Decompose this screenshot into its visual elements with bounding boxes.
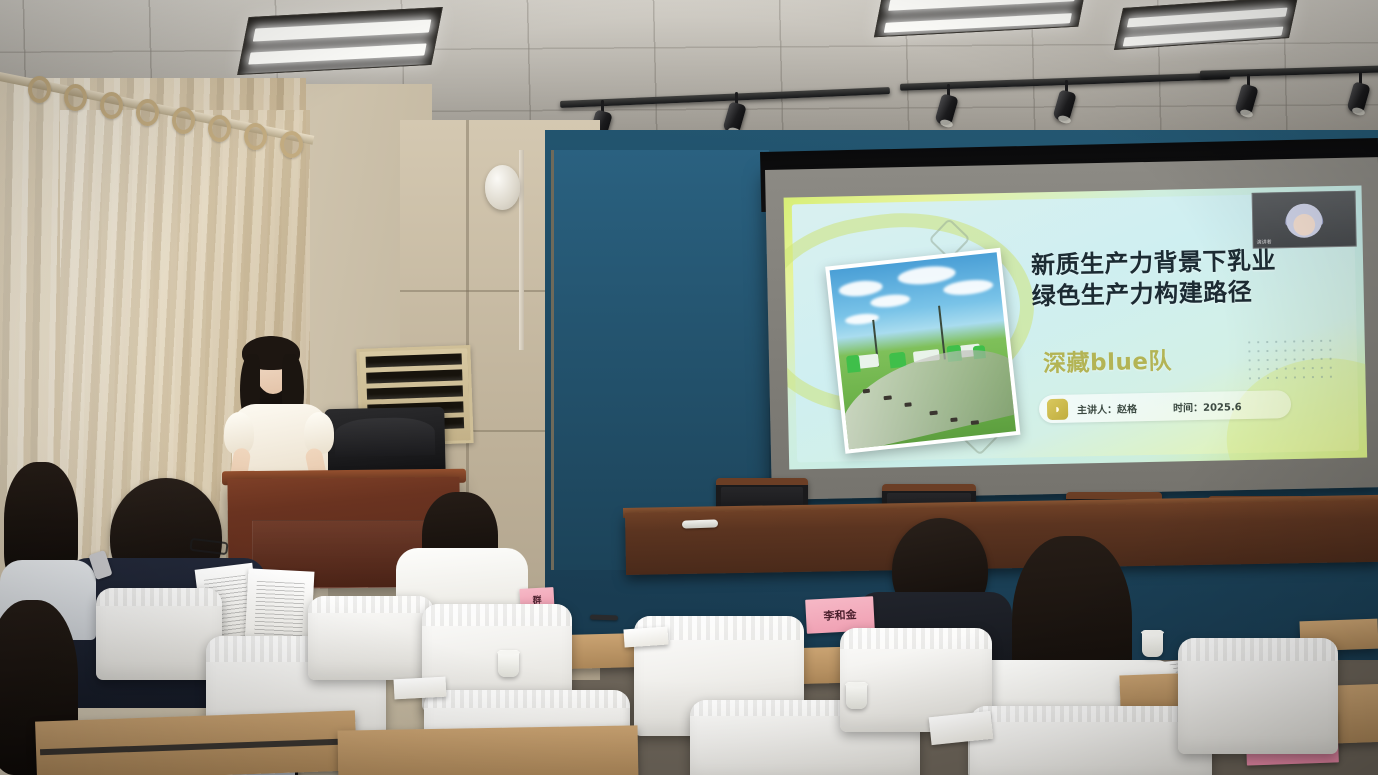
slide-time-label: 时间：2025.6 — [1173, 398, 1242, 414]
audience-chair[interactable] — [308, 596, 434, 680]
conference-room-scene: 新质生产力背景下乳业 绿色生产力构建路径 深藏blue队 ◗ 主讲人：赵格 时间… — [0, 0, 1378, 775]
document-sheet[interactable] — [394, 677, 447, 700]
paper-cup[interactable] — [498, 650, 519, 677]
wall-speaker-icon — [485, 165, 520, 210]
video-conference-pip[interactable]: 演讲者 — [1252, 191, 1357, 249]
slide-speaker-label: 主讲人：赵格 — [1077, 400, 1137, 416]
slide-title: 新质生产力背景下乳业 绿色生产力构建路径 — [1031, 244, 1352, 312]
audience-desk — [338, 725, 639, 775]
slide-decor-dotgrid — [1245, 336, 1338, 386]
curtain-grommet — [28, 76, 51, 103]
presenter-sleeve-right — [304, 412, 334, 454]
slide-team-name: 深藏blue队 — [1043, 342, 1173, 379]
curtain-grommet — [244, 123, 267, 150]
projection-screen[interactable]: 新质生产力背景下乳业 绿色生产力构建路径 深藏blue队 ◗ 主讲人：赵格 时间… — [765, 157, 1378, 500]
curtain-grommet — [208, 115, 231, 142]
audience-chair[interactable] — [970, 706, 1212, 775]
paper-cup[interactable] — [1142, 630, 1163, 657]
slide-photo-frame — [825, 248, 1020, 454]
slide-info-bar: ◗ 主讲人：赵格 时间：2025.6 — [1039, 390, 1292, 423]
ceiling-light-panel — [237, 7, 443, 75]
pip-participant-avatar — [1286, 203, 1323, 238]
curtain-grommet — [100, 92, 123, 119]
curtain-grommet — [172, 107, 195, 134]
audience-chair[interactable] — [96, 588, 222, 680]
curtain-grommet — [280, 131, 303, 158]
microphone[interactable] — [682, 519, 718, 528]
pen[interactable] — [590, 615, 618, 621]
audience-chair[interactable] — [1178, 638, 1338, 754]
presentation-slide: 新质生产力背景下乳业 绿色生产力构建路径 深藏blue队 ◗ 主讲人：赵格 时间… — [784, 186, 1368, 470]
wall-conduit — [519, 150, 524, 350]
curtain-grommet — [136, 99, 159, 126]
wall-seam — [400, 290, 546, 292]
paper-cup[interactable] — [846, 682, 867, 709]
dairy-farm-photo — [830, 252, 1016, 449]
curtain-grommet — [64, 84, 87, 111]
moon-badge-icon: ◗ — [1047, 398, 1068, 419]
pip-label: 演讲者 — [1257, 238, 1272, 245]
judges-table — [625, 500, 1378, 575]
document-sheet[interactable] — [623, 626, 668, 647]
